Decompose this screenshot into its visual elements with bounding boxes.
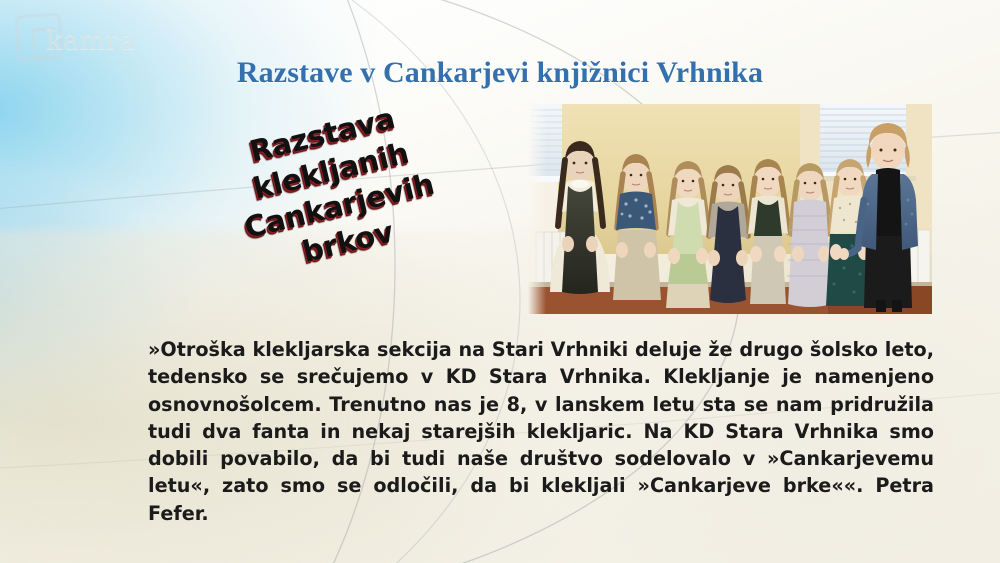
page-title: Razstave v Cankarjevi knjižnici Vrhnika: [0, 56, 1000, 90]
kamra-logo-text: kamra: [46, 25, 136, 56]
person-3: [666, 161, 710, 308]
slide-canvas: kamra Razstave v Cankarjevi knjižnici Vr…: [0, 0, 1000, 563]
person-4: [708, 165, 748, 303]
person-5: [748, 159, 788, 304]
body-paragraph: »Otroška klekljarska sekcija na Stari Vr…: [148, 336, 934, 527]
group-photo: [528, 104, 932, 314]
group-photo-image: [528, 104, 932, 314]
person-6: [787, 163, 833, 307]
